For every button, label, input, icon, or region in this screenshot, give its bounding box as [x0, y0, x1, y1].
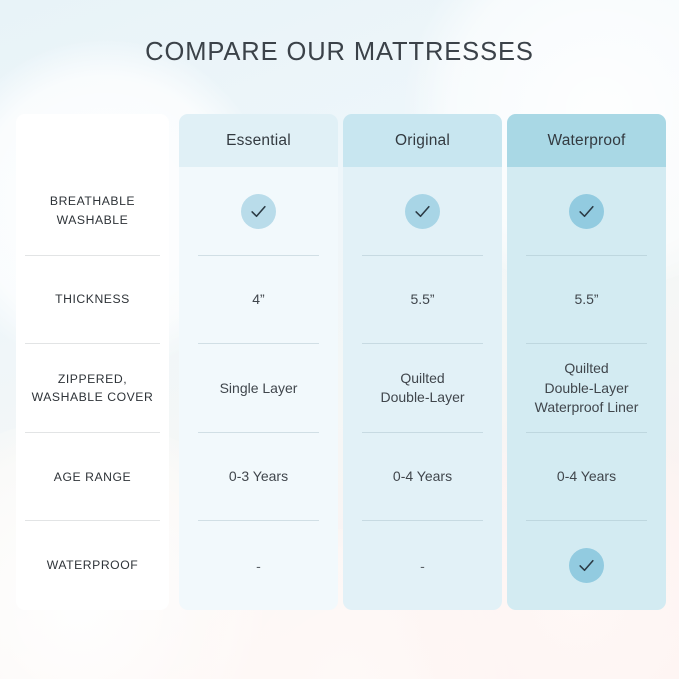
check-icon [405, 194, 440, 229]
row-label-text: WATERPROOF [47, 556, 138, 575]
cell-original-waterproof: - [343, 521, 502, 610]
cell-value: 5.5” [574, 290, 598, 310]
cell-original-cover: Quilted Double-Layer [343, 344, 502, 433]
column-body-essential: 4” Single Layer 0-3 Years - [179, 167, 338, 610]
cell-waterproof-breathable-washable [507, 167, 666, 256]
row-label-thickness: THICKNESS [16, 256, 169, 345]
cell-original-breathable-washable [343, 167, 502, 256]
column-header-essential[interactable]: Essential [179, 114, 338, 167]
row-label-text: AGE RANGE [54, 468, 131, 487]
cell-value: 4” [252, 290, 264, 310]
cell-value: Quilted Double-Layer [380, 369, 464, 409]
product-column-waterproof[interactable]: Waterproof 5.5” Quilted Double-Layer Wat… [507, 114, 666, 610]
cell-essential-age-range: 0-3 Years [179, 433, 338, 522]
check-icon [241, 194, 276, 229]
cell-value: 0-4 Years [557, 467, 616, 487]
feature-label-column: BREATHABLE WASHABLE THICKNESS ZIPPERED, … [16, 114, 169, 610]
cell-waterproof-waterproof [507, 521, 666, 610]
cell-value: 5.5” [410, 290, 434, 310]
cell-value: - [256, 559, 261, 573]
comparison-table: BREATHABLE WASHABLE THICKNESS ZIPPERED, … [16, 114, 666, 610]
column-header-original[interactable]: Original [343, 114, 502, 167]
product-column-original[interactable]: Original 5.5” Quilted Double-Layer 0-4 Y… [343, 114, 502, 610]
cell-original-age-range: 0-4 Years [343, 433, 502, 522]
cell-waterproof-cover: Quilted Double-Layer Waterproof Liner [507, 344, 666, 433]
cell-waterproof-age-range: 0-4 Years [507, 433, 666, 522]
row-label-text: BREATHABLE WASHABLE [50, 192, 135, 230]
cell-value: 0-4 Years [393, 467, 452, 487]
cell-essential-breathable-washable [179, 167, 338, 256]
row-label-text: ZIPPERED, WASHABLE COVER [32, 370, 154, 408]
comparison-infographic: COMPARE OUR MATTRESSES BREATHABLE WASHAB… [0, 0, 679, 679]
cell-value: - [420, 559, 425, 573]
cell-value: Quilted Double-Layer Waterproof Liner [535, 359, 639, 419]
label-column-body: BREATHABLE WASHABLE THICKNESS ZIPPERED, … [16, 167, 169, 610]
cell-waterproof-thickness: 5.5” [507, 256, 666, 345]
cell-essential-cover: Single Layer [179, 344, 338, 433]
page-title: COMPARE OUR MATTRESSES [0, 38, 679, 67]
cell-value: 0-3 Years [229, 467, 288, 487]
label-column-header [16, 114, 169, 167]
check-icon [569, 194, 604, 229]
row-label-waterproof: WATERPROOF [16, 521, 169, 610]
row-label-age-range: AGE RANGE [16, 433, 169, 522]
column-body-waterproof: 5.5” Quilted Double-Layer Waterproof Lin… [507, 167, 666, 610]
cell-value: Single Layer [220, 379, 298, 399]
cell-essential-waterproof: - [179, 521, 338, 610]
product-column-essential[interactable]: Essential 4” Single Layer 0-3 Years - [179, 114, 338, 610]
cell-essential-thickness: 4” [179, 256, 338, 345]
row-label-zippered-washable-cover: ZIPPERED, WASHABLE COVER [16, 344, 169, 433]
check-icon [569, 548, 604, 583]
row-label-text: THICKNESS [55, 290, 130, 309]
cell-original-thickness: 5.5” [343, 256, 502, 345]
row-label-breathable-washable: BREATHABLE WASHABLE [16, 167, 169, 256]
column-body-original: 5.5” Quilted Double-Layer 0-4 Years - [343, 167, 502, 610]
column-header-waterproof[interactable]: Waterproof [507, 114, 666, 167]
